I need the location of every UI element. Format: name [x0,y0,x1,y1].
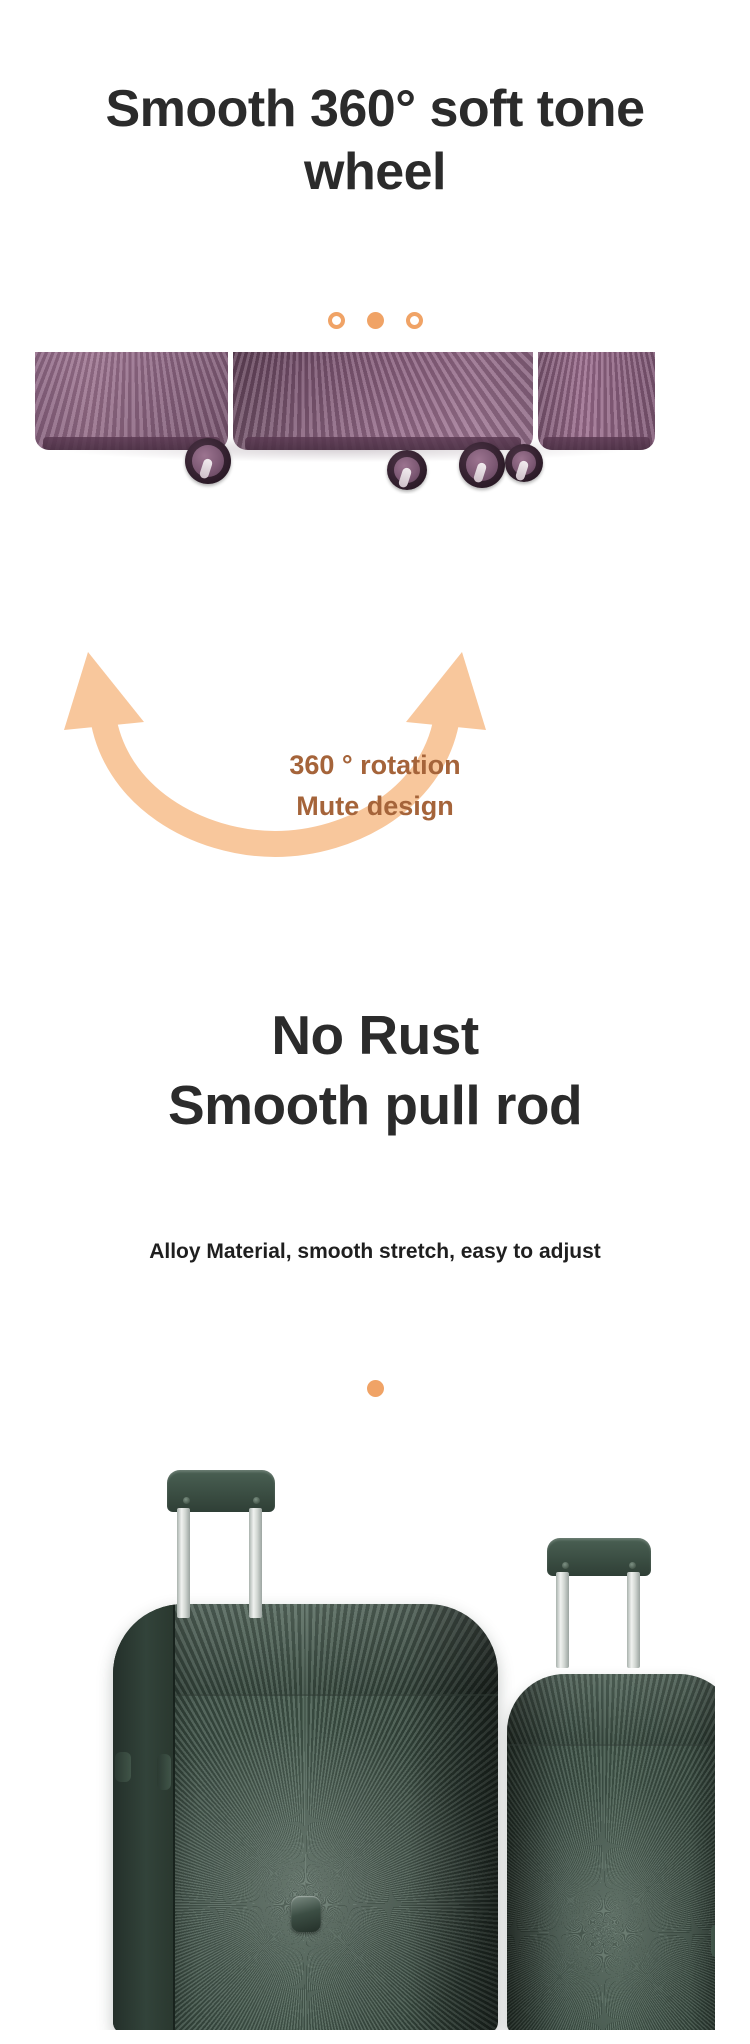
telescoping-handle [167,1470,275,1620]
circle-outline-icon[interactable] [328,312,345,329]
screw-icon [562,1562,569,1569]
wheel-section-heading: Smooth 360° soft tone wheel [0,78,750,205]
side-panel [113,1604,175,2030]
wheel-carousel-dots[interactable] [0,312,750,329]
handle-grip [547,1538,651,1576]
pull-rod-section-heading: No Rust Smooth pull rod [0,1000,750,1141]
telescoping-handle-secondary [547,1538,655,1688]
circle-filled-icon[interactable] [367,1380,384,1397]
spinner-wheel-icon [387,450,427,490]
green-suitcase-secondary [507,1674,715,2030]
brand-badge-icon [291,1896,321,1932]
alloy-rod [177,1508,190,1618]
pull-rod-carousel-dots[interactable] [0,1380,750,1397]
bottom-bumper [543,437,651,450]
purple-suitcase-wheels-photo [35,352,655,494]
pull-rod-heading-line2: Smooth pull rod [0,1070,750,1140]
screw-icon [183,1497,190,1504]
pull-rod-heading-line1: No Rust [0,1000,750,1070]
green-suitcase-main [113,1604,498,2030]
rotation-annotation: 360 ° rotation Mute design [0,745,750,827]
product-detail-page: Smooth 360° soft tone wheel 360 ° r [0,0,750,2044]
spinner-wheel-icon [185,438,231,484]
screw-icon [253,1497,260,1504]
circle-outline-icon[interactable] [406,312,423,329]
side-button [711,1924,715,1958]
green-suitcase-pull-rod-photo [95,1452,715,2030]
alloy-rod [249,1508,262,1618]
screw-icon [629,1562,636,1569]
side-foot [157,1754,171,1790]
alloy-rod [627,1572,640,1668]
rotation-annotation-line1: 360 ° rotation [0,745,750,786]
side-foot [115,1752,131,1782]
circle-filled-icon[interactable] [367,312,384,329]
rotation-annotation-line2: Mute design [0,786,750,827]
spinner-wheel-icon [505,444,543,482]
handle-grip [167,1470,275,1512]
pull-rod-subtitle: Alloy Material, smooth stretch, easy to … [0,1240,750,1264]
spinner-wheel-icon [459,442,505,488]
alloy-rod [556,1572,569,1668]
